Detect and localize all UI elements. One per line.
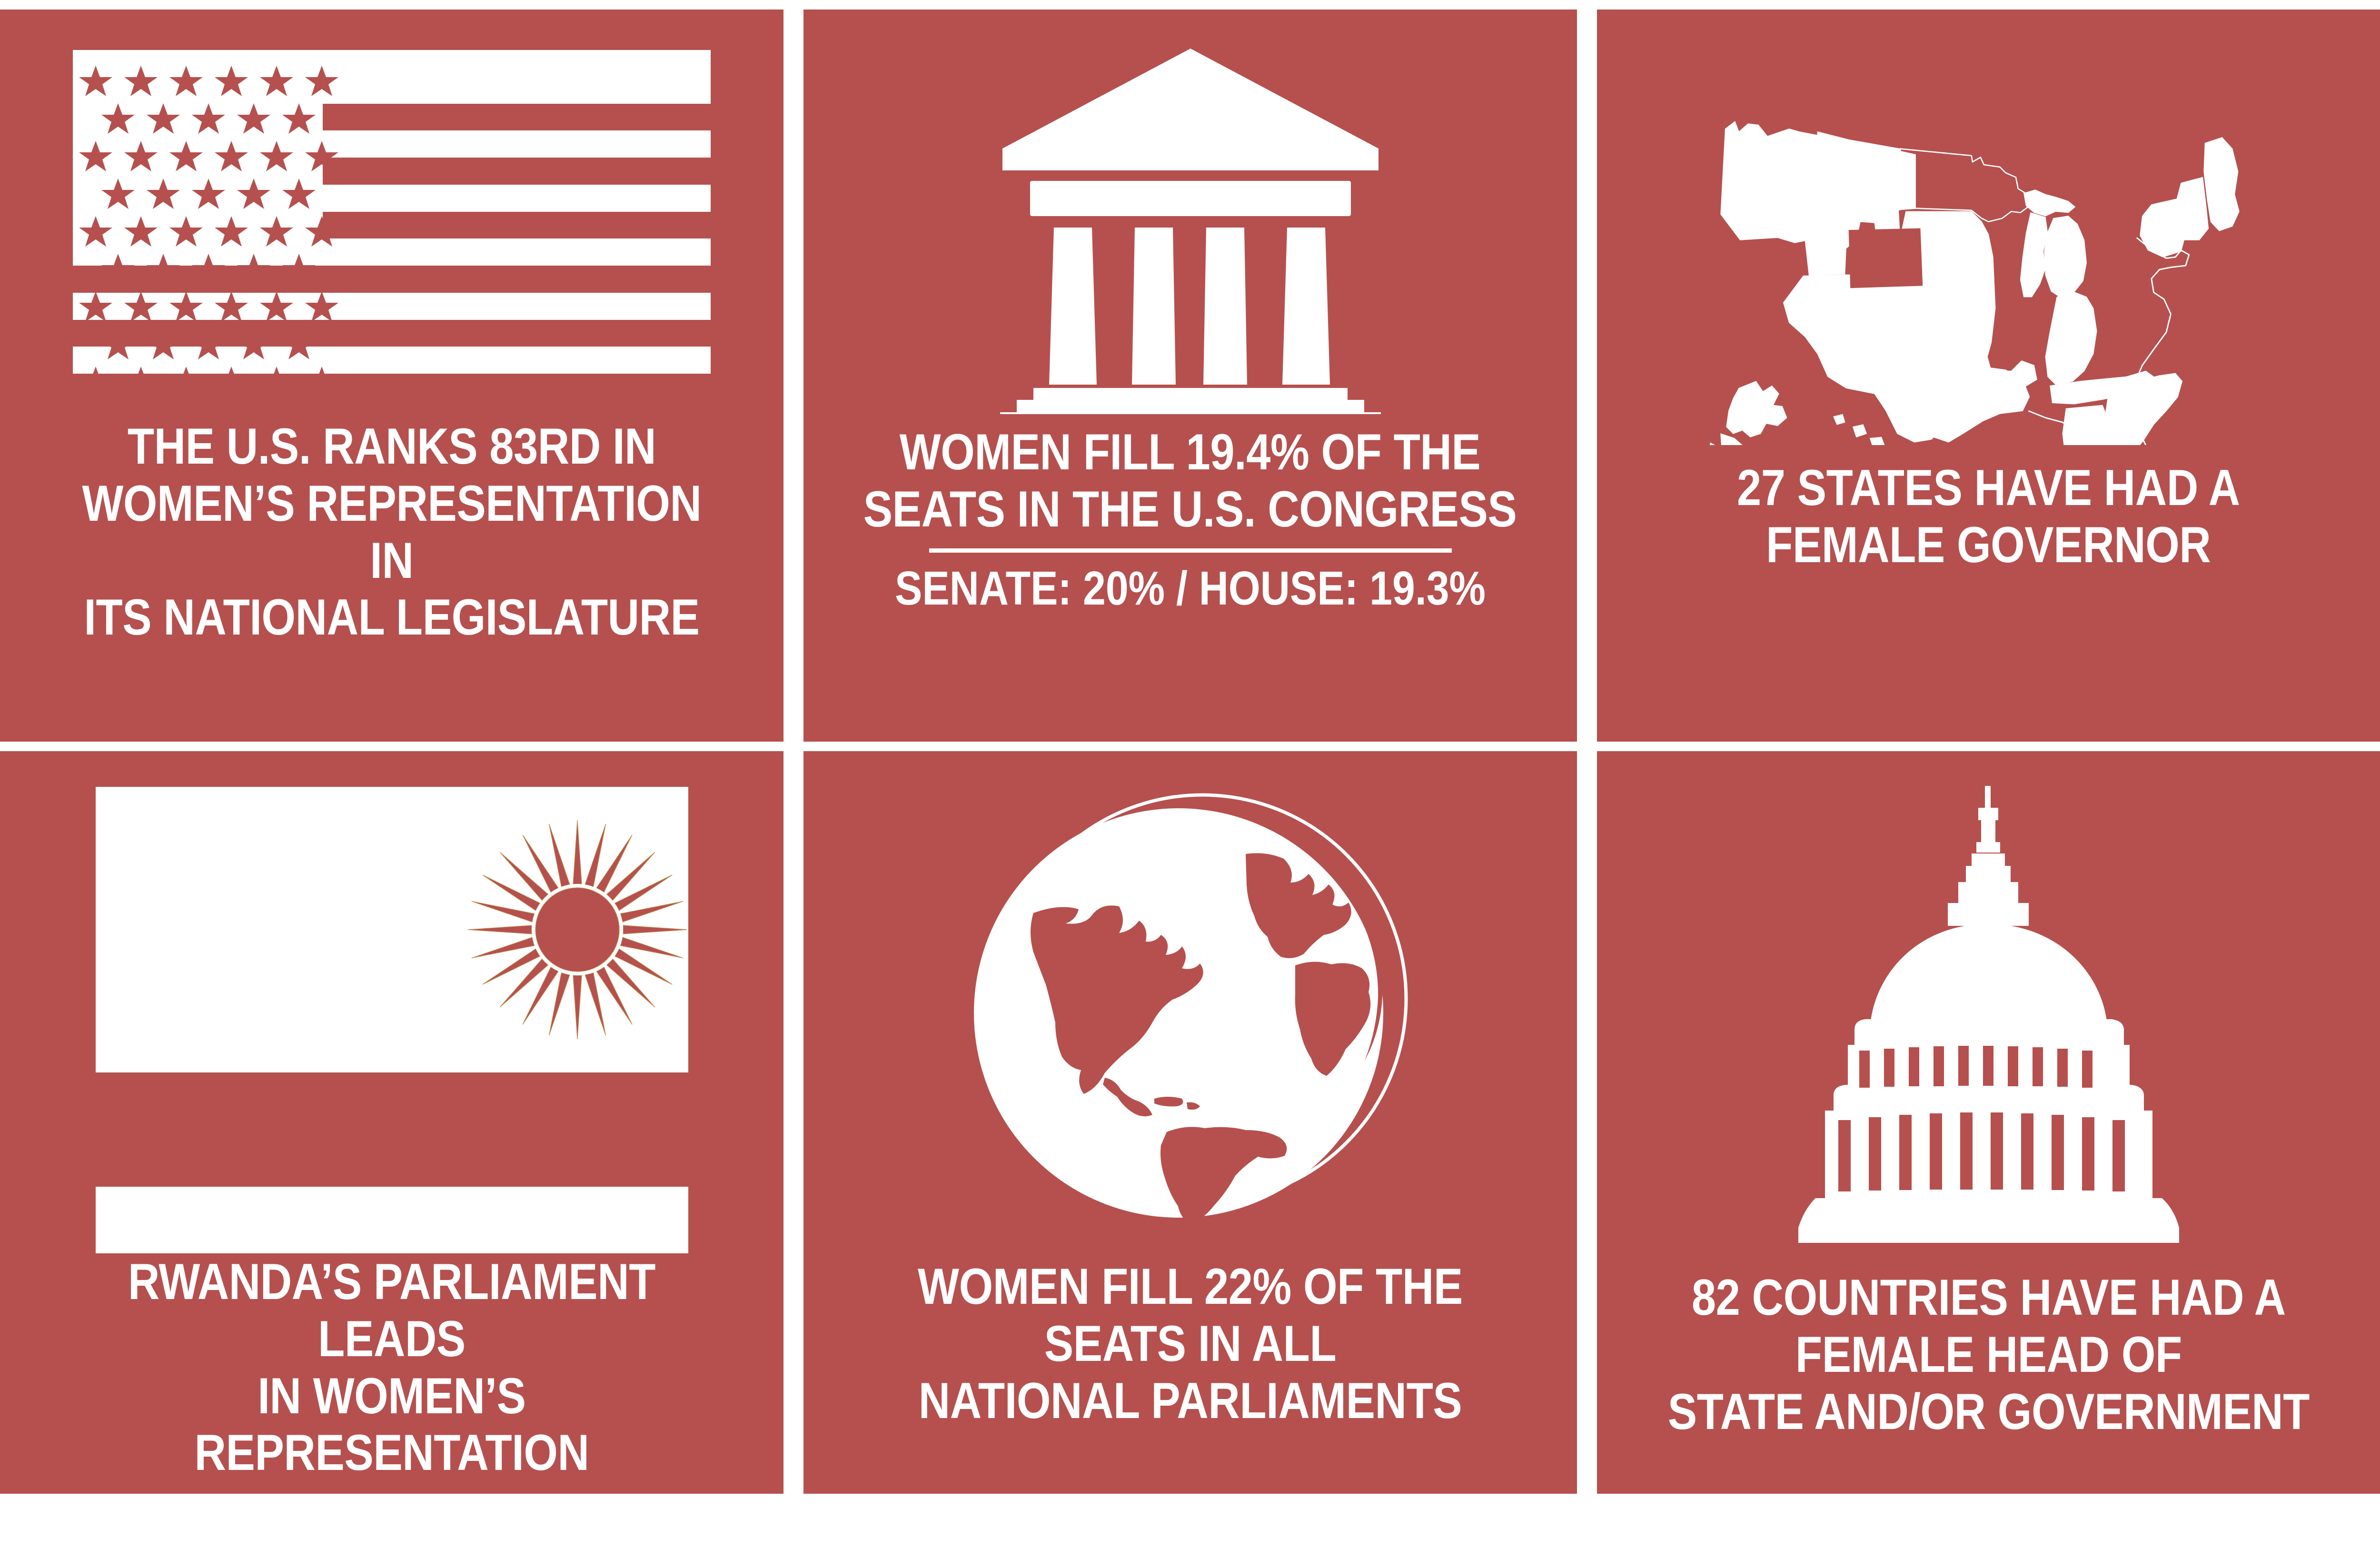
us-map-icon: [1597, 55, 2380, 459]
infographic-grid: THE U.S. RANKS 83rd IN WOMEN’S REPRESENT…: [0, 0, 2380, 1494]
globe-icon: [803, 768, 1577, 1258]
panel-stat-text: WOMEN FILL 19.4% OF THE SEATS IN THE U.S…: [863, 424, 1517, 538]
classical-government-building-icon: [803, 29, 1577, 424]
stat-divider: [929, 548, 1452, 553]
panel-stat-text: WOMEN FILL 22% OF THE SEATS IN ALL NATIO…: [918, 1258, 1463, 1429]
panel-stat-text: RWANDA’S PARLIAMENT LEADS IN WOMEN’S REP…: [55, 1253, 729, 1481]
panel-cell-female-governors: 27 STATES HAVE HAD A FEMALE GOVERNOR: [1587, 0, 2380, 742]
panel-female-heads-of-state[interactable]: 82 COUNTRIES HAVE HAD A FEMALE HEAD OF S…: [1597, 751, 2380, 1494]
panel-cell-us-rank: THE U.S. RANKS 83rd IN WOMEN’S REPRESENT…: [0, 0, 793, 742]
panel-female-governors[interactable]: 27 STATES HAVE HAD A FEMALE GOVERNOR: [1597, 10, 2380, 742]
panel-cell-world-parliaments: WOMEN FILL 22% OF THE SEATS IN ALL NATIO…: [793, 742, 1587, 1494]
panel-substat-text: SENATE: 20% / HOUSE: 19.3%: [895, 562, 1486, 615]
panel-substat-text: LOWER: 63.8% / UPPER: 38.5%: [87, 1505, 697, 1558]
panel-world-parliaments[interactable]: WOMEN FILL 22% OF THE SEATS IN ALL NATIO…: [803, 751, 1577, 1494]
panel-rwanda-parliament[interactable]: RWANDA’S PARLIAMENT LEADS IN WOMEN’S REP…: [0, 751, 783, 1494]
us-capitol-dome-icon: [1597, 760, 2380, 1269]
panel-us-rank[interactable]: THE U.S. RANKS 83rd IN WOMEN’S REPRESENT…: [0, 10, 783, 742]
rwanda-flag-icon: [0, 787, 783, 1253]
panel-stat-text: 82 COUNTRIES HAVE HAD A FEMALE HEAD OF S…: [1667, 1269, 2309, 1440]
panel-us-congress[interactable]: WOMEN FILL 19.4% OF THE SEATS IN THE U.S…: [803, 10, 1577, 742]
panel-stat-text: 27 STATES HAVE HAD A FEMALE GOVERNOR: [1737, 459, 2240, 574]
panel-cell-female-heads-of-state: 82 COUNTRIES HAVE HAD A FEMALE HEAD OF S…: [1587, 742, 2380, 1494]
panel-cell-rwanda-parliament: RWANDA’S PARLIAMENT LEADS IN WOMEN’S REP…: [0, 742, 793, 1494]
panel-stat-text: THE U.S. RANKS 83rd IN WOMEN’S REPRESENT…: [55, 418, 729, 646]
us-flag-icon: [0, 38, 783, 414]
panel-cell-us-congress: WOMEN FILL 19.4% OF THE SEATS IN THE U.S…: [793, 0, 1587, 742]
